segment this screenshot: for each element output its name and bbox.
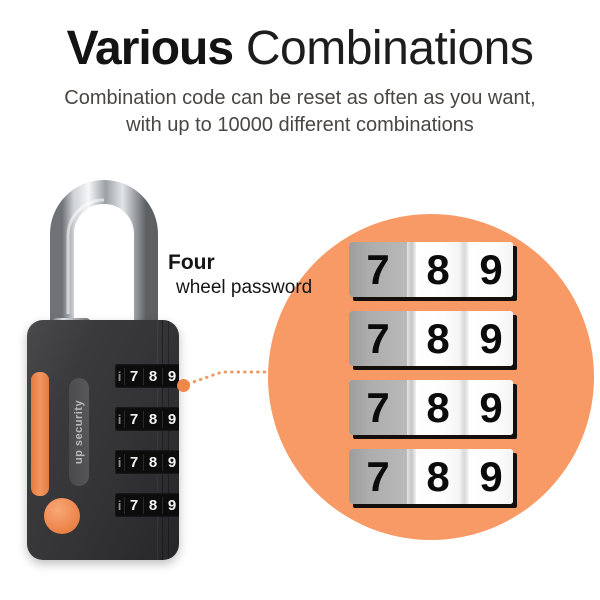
lock-dial-4-digit-3: 9	[162, 497, 179, 514]
strip-3-digit-1: 7	[349, 380, 407, 435]
lock-dial-3-digit-2: 8	[143, 454, 162, 471]
magnified-dial-strip-2[interactable]: 7 8 9	[349, 311, 513, 368]
lock-dial-3-digit-3: 9	[162, 454, 179, 471]
callout-primary-text: Four	[168, 250, 348, 275]
subtitle-line-2: with up to 10000 different combinations	[0, 112, 600, 139]
strip-3-divider-2	[460, 380, 469, 435]
strip-1-divider-1	[407, 242, 416, 297]
brand-label: up security	[73, 400, 85, 464]
strip-2-divider-1	[407, 311, 416, 366]
lock-dial-3-digit-1: 7	[124, 454, 143, 471]
padlock-product-image: up security i 7 8 9 i 7 8 9 i 7 8 9	[14, 172, 194, 568]
strip-1-face: 7 8 9	[349, 242, 513, 297]
strip-2-digit-2: 8	[416, 311, 460, 366]
lock-dial-row-3[interactable]: i 7 8 9	[115, 450, 179, 474]
strip-1-digit-3: 9	[469, 242, 513, 297]
lock-dial-1-digit-2: 8	[143, 368, 162, 385]
strip-3-digit-2: 8	[416, 380, 460, 435]
lock-dial-4-digit-1: 7	[124, 497, 143, 514]
page-subtitle: Combination code can be reset as often a…	[0, 76, 600, 139]
lock-dial-3-partial: i	[115, 455, 124, 470]
lock-dial-2-digit-1: 7	[124, 411, 143, 428]
callout-label: Four wheel password	[168, 250, 348, 300]
strip-4-digit-3: 9	[469, 449, 513, 504]
lock-dial-group: i 7 8 9 i 7 8 9 i 7 8 9 i 7 8 9	[115, 364, 179, 516]
header: Various Combinations Combination code ca…	[0, 0, 600, 139]
strip-2-face: 7 8 9	[349, 311, 513, 366]
lock-dial-2-digit-3: 9	[162, 411, 179, 428]
lock-dial-row-2[interactable]: i 7 8 9	[115, 407, 179, 431]
title-strong: Various	[67, 22, 233, 75]
strip-1-divider-2	[460, 242, 469, 297]
magnified-dial-strip-1[interactable]: 7 8 9	[349, 242, 513, 299]
strip-4-face: 7 8 9	[349, 449, 513, 504]
strip-4-digit-2: 8	[416, 449, 460, 504]
magnified-dial-strip-4[interactable]: 7 8 9	[349, 449, 513, 506]
strip-1-digit-1: 7	[349, 242, 407, 297]
lock-dial-1-digit-1: 7	[124, 368, 143, 385]
strip-3-digit-3: 9	[469, 380, 513, 435]
strip-2-digit-3: 9	[469, 311, 513, 366]
lock-dial-row-4[interactable]: i 7 8 9	[115, 493, 179, 517]
lock-dial-1-partial: i	[115, 369, 124, 384]
lock-dial-row-1[interactable]: i 7 8 9	[115, 364, 179, 388]
strip-3-divider-1	[407, 380, 416, 435]
lock-dial-1-digit-3: 9	[162, 368, 179, 385]
reset-button[interactable]	[44, 498, 80, 534]
callout-secondary-text: wheel password	[168, 275, 348, 300]
strip-4-divider-2	[460, 449, 469, 504]
subtitle-line-1: Combination code can be reset as often a…	[0, 85, 600, 112]
strip-4-digit-1: 7	[349, 449, 407, 504]
strip-3-face: 7 8 9	[349, 380, 513, 435]
lock-dial-2-digit-2: 8	[143, 411, 162, 428]
title-light: Combinations	[246, 22, 533, 75]
strip-2-divider-2	[460, 311, 469, 366]
page-title: Various Combinations	[0, 0, 600, 76]
brand-plate: up security	[69, 378, 89, 486]
orange-side-strip	[31, 372, 49, 496]
strip-1-digit-2: 8	[416, 242, 460, 297]
strip-4-divider-1	[407, 449, 416, 504]
magnified-dial-strip-3[interactable]: 7 8 9	[349, 380, 513, 437]
lock-dial-4-partial: i	[115, 498, 124, 513]
lock-dial-4-digit-2: 8	[143, 497, 162, 514]
lock-body: up security i 7 8 9 i 7 8 9 i 7 8 9	[27, 320, 179, 560]
dial-marker-dot	[177, 379, 190, 392]
lock-dial-2-partial: i	[115, 412, 124, 427]
magnified-dial-stack: 7 8 9 7 8 9 7 8 9 7 8	[349, 242, 519, 518]
strip-2-digit-1: 7	[349, 311, 407, 366]
